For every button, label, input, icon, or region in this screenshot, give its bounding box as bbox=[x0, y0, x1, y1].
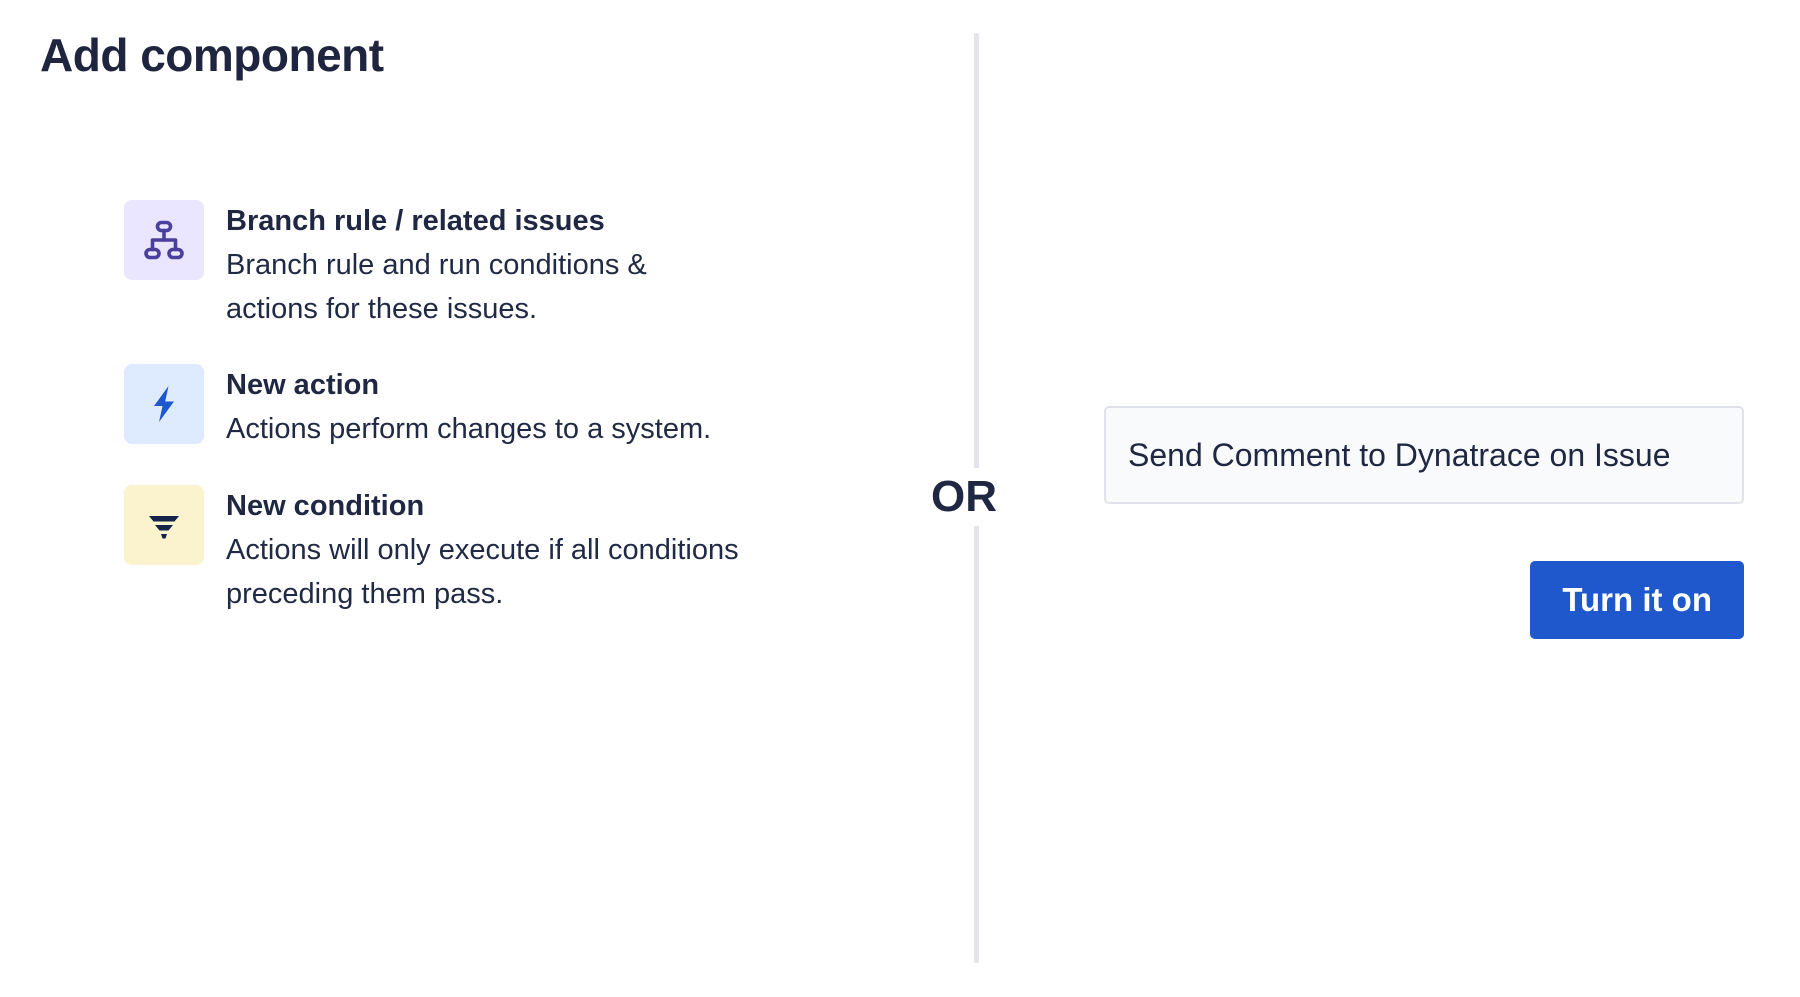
branch-hierarchy-icon bbox=[124, 200, 204, 280]
component-text: New action Actions perform changes to a … bbox=[226, 364, 711, 451]
rule-publish-panel: Send Comment to Dynatrace on Issue Turn … bbox=[1104, 406, 1744, 639]
button-row: Turn it on bbox=[1104, 561, 1744, 639]
lightning-bolt-icon bbox=[124, 364, 204, 444]
component-option-new-condition[interactable]: New condition Actions will only execute … bbox=[124, 485, 764, 616]
rule-name-input[interactable]: Send Comment to Dynatrace on Issue bbox=[1104, 406, 1744, 504]
rule-name-input-value: Send Comment to Dynatrace on Issue bbox=[1128, 436, 1671, 474]
component-list: Branch rule / related issues Branch rule… bbox=[124, 200, 764, 649]
component-text: New condition Actions will only execute … bbox=[226, 485, 746, 616]
component-option-new-action[interactable]: New action Actions perform changes to a … bbox=[124, 364, 764, 451]
add-component-screen: Add component Branch rule / related issu… bbox=[0, 0, 1800, 997]
turn-it-on-button[interactable]: Turn it on bbox=[1530, 561, 1744, 639]
component-description: Actions will only execute if all conditi… bbox=[226, 528, 746, 616]
component-description: Actions perform changes to a system. bbox=[226, 407, 711, 451]
component-option-branch-rule[interactable]: Branch rule / related issues Branch rule… bbox=[124, 200, 764, 331]
component-title: New condition bbox=[226, 487, 746, 526]
component-title: Branch rule / related issues bbox=[226, 202, 746, 241]
page-title: Add component bbox=[40, 28, 384, 83]
component-title: New action bbox=[226, 366, 711, 405]
filter-funnel-icon bbox=[124, 485, 204, 565]
component-description: Branch rule and run conditions & actions… bbox=[226, 243, 746, 331]
or-separator-label: OR bbox=[925, 468, 1003, 526]
component-text: Branch rule / related issues Branch rule… bbox=[226, 200, 746, 331]
